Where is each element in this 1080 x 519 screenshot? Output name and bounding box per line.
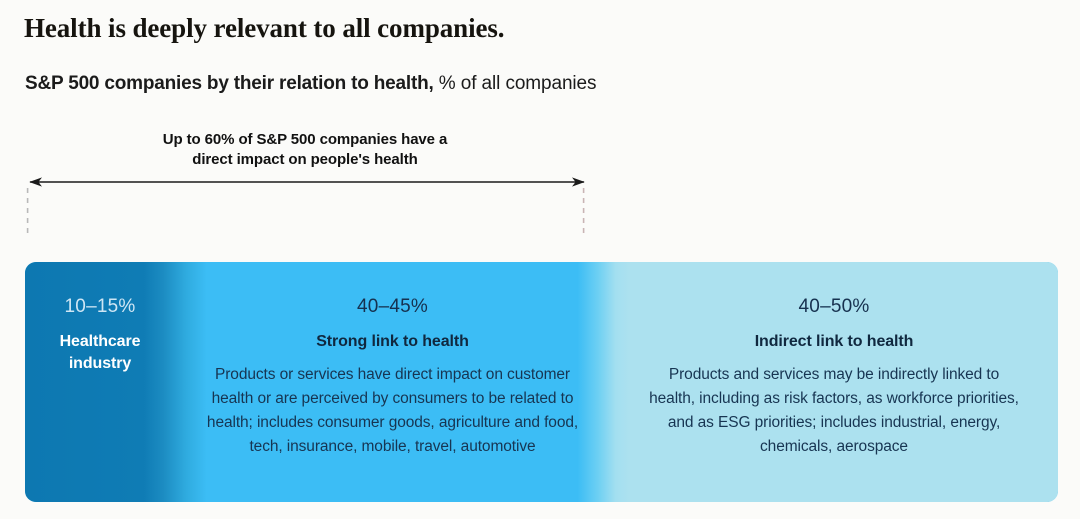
segment-healthcare-industry[interactable]: 10–15% Healthcare industry <box>25 262 175 502</box>
segment-title: Indirect link to health <box>755 331 914 352</box>
segment-indirect-link[interactable]: 40–50% Indirect link to health Products … <box>610 262 1058 502</box>
stacked-bar-band: 10–15% Healthcare industry 40–45% Strong… <box>25 262 1058 502</box>
segment-description: Products and services may be indirectly … <box>648 363 1020 459</box>
segment-title: Healthcare industry <box>35 331 165 375</box>
segment-strong-link[interactable]: 40–45% Strong link to health Products or… <box>175 262 610 502</box>
infographic-page: Health is deeply relevant to all compani… <box>0 0 1080 519</box>
chart-subtitle: S&P 500 companies by their relation to h… <box>25 72 596 96</box>
segment-description: Products or services have direct impact … <box>203 363 583 459</box>
annotation-callout: Up to 60% of S&P 500 companies have a di… <box>27 130 583 170</box>
annotation-line-2: direct impact on people's health <box>27 150 583 170</box>
segment-percent: 40–45% <box>357 295 428 318</box>
annotation-line-1: Up to 60% of S&P 500 companies have a <box>27 130 583 150</box>
chart-subtitle-light: % of all companies <box>434 73 597 94</box>
segment-percent: 40–50% <box>799 295 870 318</box>
chart-subtitle-strong: S&P 500 companies by their relation to h… <box>25 73 434 94</box>
page-title: Health is deeply relevant to all compani… <box>24 12 504 44</box>
double-headed-arrow-icon <box>18 172 618 247</box>
segment-percent: 10–15% <box>65 295 136 318</box>
segment-title: Strong link to health <box>316 331 469 352</box>
